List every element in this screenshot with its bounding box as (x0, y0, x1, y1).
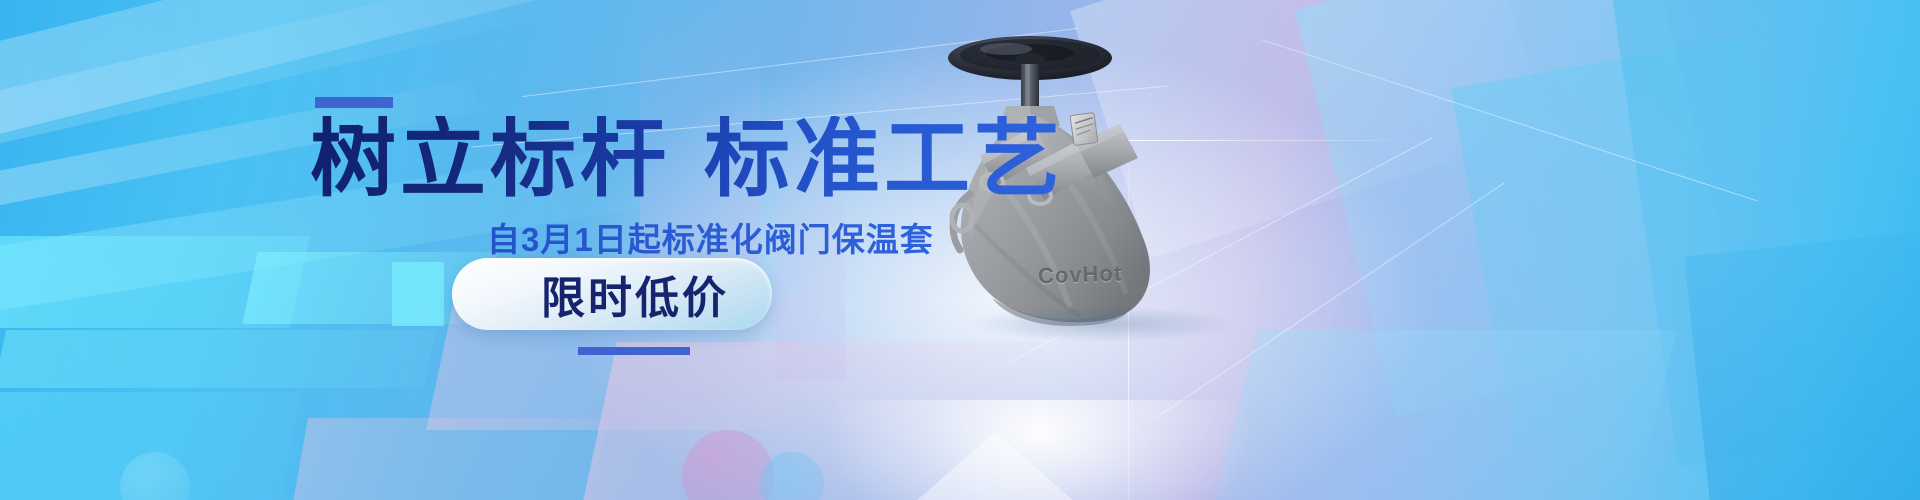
cta-button-label: 限时低价 (495, 262, 729, 326)
headline: 树立标杆标准工艺 (310, 116, 1064, 202)
subtitle: 自3月1日起标准化阀门保温套 (487, 213, 934, 261)
cta-underline-accent (578, 347, 690, 355)
headline-part-2: 标准工艺 (704, 111, 1064, 207)
promo-banner: CovHot 树立标杆标准工艺 自3月1日起标准化阀门保温套 限时低价 (0, 0, 1920, 500)
limited-time-price-button[interactable]: 限时低价 (452, 258, 772, 330)
banner-content: 树立标杆标准工艺 自3月1日起标准化阀门保温套 限时低价 (0, 0, 1920, 500)
headline-accent-dash (315, 97, 393, 108)
headline-part-1: 树立标杆 (310, 111, 670, 207)
